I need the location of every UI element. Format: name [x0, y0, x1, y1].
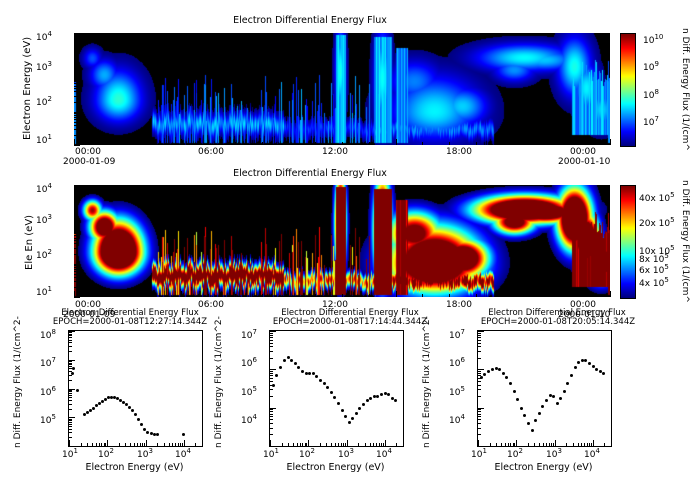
axis-tick [74, 207, 77, 208]
spectrum-2-xtick-2: 102 [299, 447, 315, 460]
spectrum-2-xlabel: Electron Energy (eV) [269, 462, 402, 473]
axis-tick [326, 443, 327, 446]
data-point [337, 402, 340, 405]
data-point [283, 359, 286, 362]
spectrogram-mid-ytick-4: 104 [36, 182, 52, 195]
data-point [556, 402, 559, 405]
axis-tick [270, 369, 276, 370]
axis-tick [157, 443, 158, 446]
axis-tick [288, 139, 289, 145]
axis-tick [69, 346, 72, 347]
data-point [131, 409, 134, 412]
spectrogram-mid-ytick-1: 101 [36, 285, 52, 298]
data-point [487, 370, 490, 373]
axis-tick [74, 214, 77, 215]
axis-tick [604, 443, 605, 446]
axis-tick [270, 337, 273, 338]
axis-tick [69, 360, 75, 361]
axis-tick [74, 230, 80, 231]
data-point [483, 373, 486, 376]
axis-tick [74, 200, 77, 201]
axis-tick [101, 443, 102, 446]
spectrogram-top-colorbar [620, 33, 636, 147]
axis-tick [338, 443, 339, 446]
data-point [362, 403, 365, 406]
axis-tick [270, 423, 273, 424]
axis-tick [74, 271, 77, 272]
data-point [182, 433, 185, 436]
axis-tick [556, 142, 557, 145]
axis-tick [282, 443, 283, 446]
spectrogram-top-image [74, 33, 610, 145]
axis-tick [195, 443, 196, 446]
axis-tick [74, 145, 80, 146]
spectrogram-mid-ytick-2: 102 [36, 248, 52, 261]
axis-tick [125, 443, 126, 446]
axis-tick [69, 422, 72, 423]
axis-tick [81, 443, 82, 446]
spectrum-2-xtick-4: 104 [376, 447, 392, 460]
data-point [581, 359, 584, 362]
axis-tick [584, 443, 585, 446]
spectrum-2-ytick-7: 107 [241, 328, 257, 341]
axis-tick [478, 408, 484, 409]
axis-tick [476, 142, 477, 145]
axis-tick [370, 443, 371, 446]
spectrum-1-subtitle: EPOCH=2000-01-08T12:27:14.344Z [20, 317, 240, 327]
axis-tick [341, 443, 342, 446]
data-point [83, 413, 86, 416]
axis-tick [478, 358, 481, 359]
spectrum-2-xtick-1: 101 [263, 447, 279, 460]
axis-tick [74, 187, 77, 188]
axis-tick [270, 358, 273, 359]
data-point [549, 394, 552, 397]
axis-tick [270, 428, 273, 429]
axis-tick [69, 393, 72, 394]
data-point [137, 418, 140, 421]
axis-tick [478, 343, 481, 344]
data-point [394, 399, 397, 402]
axis-tick [69, 417, 75, 418]
axis-tick [611, 443, 612, 446]
axis-tick [74, 86, 77, 87]
axis-tick [381, 443, 382, 446]
axis-tick [305, 443, 306, 446]
data-point [602, 372, 605, 375]
data-point [577, 361, 580, 364]
axis-tick [74, 102, 77, 103]
axis-tick [403, 443, 404, 446]
spectrogram-mid-title: Electron Differential Energy Flux [0, 168, 620, 179]
axis-tick [369, 294, 370, 297]
data-point [566, 382, 569, 385]
data-point [570, 374, 573, 377]
axis-tick [69, 351, 72, 352]
axis-tick [496, 443, 497, 446]
axis-tick [549, 443, 550, 446]
axis-tick [530, 142, 531, 145]
data-point [344, 415, 347, 418]
spectrogram-top-cbtick-9: 109 [643, 60, 659, 73]
axis-tick [478, 337, 481, 338]
axis-tick [96, 443, 97, 446]
spectrum-3-xlabel: Electron Energy (eV) [477, 462, 610, 473]
axis-tick [478, 385, 481, 386]
axis-tick [510, 443, 511, 446]
axis-tick [583, 294, 584, 297]
axis-tick [573, 443, 574, 446]
axis-tick [74, 96, 77, 97]
spectrum-1-xtick-2: 102 [98, 447, 114, 460]
data-point [319, 379, 322, 382]
axis-tick [69, 337, 72, 338]
axis-tick [74, 115, 77, 116]
axis-tick [528, 443, 529, 446]
axis-tick [74, 129, 77, 130]
axis-tick [69, 391, 72, 392]
axis-tick [74, 68, 77, 69]
axis-tick [146, 440, 147, 446]
axis-tick [69, 368, 72, 369]
data-point [86, 411, 89, 414]
spectrogram-top-ytick-2: 102 [36, 95, 52, 108]
axis-tick [69, 334, 72, 335]
data-point [552, 395, 555, 398]
spectrogram-top-ytick-1: 101 [36, 133, 52, 146]
data-point [312, 372, 315, 375]
axis-tick [74, 50, 77, 51]
data-point [326, 386, 329, 389]
axis-tick [74, 122, 77, 123]
spectrum-3-ylabel: n Diff. Energy Flux (1/(cm^2- [422, 316, 432, 448]
axis-tick [178, 443, 179, 446]
axis-tick [74, 48, 77, 49]
axis-tick [74, 291, 75, 297]
axis-tick [539, 443, 540, 446]
axis-tick [74, 52, 77, 53]
axis-tick [164, 443, 165, 446]
axis-tick [478, 428, 481, 429]
spectrum-1-xtick-1: 101 [62, 447, 78, 460]
data-point [502, 372, 505, 375]
axis-tick [181, 291, 182, 297]
axis-tick [270, 381, 273, 382]
data-point [516, 398, 519, 401]
axis-tick [478, 416, 481, 417]
spectrum-3-plot-frame [477, 330, 612, 447]
axis-tick [128, 294, 129, 297]
spectrum-1-plot-frame [68, 330, 203, 447]
data-point [574, 366, 577, 369]
axis-tick [270, 389, 273, 390]
axis-tick [396, 139, 397, 145]
axis-tick [476, 294, 477, 297]
axis-tick [478, 378, 481, 379]
axis-tick [74, 274, 77, 275]
data-point [541, 405, 544, 408]
axis-tick [74, 88, 77, 89]
spectrogram-mid-ytick-3: 103 [36, 213, 52, 226]
data-point [391, 397, 394, 400]
axis-tick [69, 342, 72, 343]
axis-tick [69, 366, 72, 367]
spectrum-1-xlabel: Electron Energy (eV) [68, 462, 201, 473]
axis-tick [478, 423, 481, 424]
data-point [513, 390, 516, 393]
axis-tick [69, 437, 72, 438]
axis-tick [69, 432, 72, 433]
axis-tick [503, 139, 504, 145]
axis-tick [74, 240, 77, 241]
axis-tick [478, 346, 481, 347]
axis-tick [589, 443, 590, 446]
axis-tick [270, 408, 276, 409]
axis-tick [235, 294, 236, 297]
axis-tick [69, 335, 72, 336]
axis-tick [270, 343, 273, 344]
axis-tick [449, 142, 450, 145]
axis-tick [140, 443, 141, 446]
data-point [387, 393, 390, 396]
axis-tick [270, 346, 273, 347]
axis-tick [490, 443, 491, 446]
axis-tick [478, 331, 484, 332]
spectrum-1-ylabel: n Diff. Energy Flux (1/(cm^2- [13, 316, 23, 448]
data-point [156, 433, 159, 436]
spectrum-1-ytick-6: 106 [40, 385, 56, 398]
spectrogram-mid-cbtick-20: 20x 105 [639, 216, 675, 229]
axis-tick [583, 142, 584, 145]
spectrum-3-xtick-2: 102 [507, 447, 523, 460]
data-point [563, 390, 566, 393]
data-point [98, 402, 101, 405]
axis-tick [69, 389, 75, 390]
spectrum-1-ytick-5: 105 [40, 413, 56, 426]
axis-tick [288, 443, 289, 446]
axis-tick [74, 62, 77, 63]
spectrogram-top-xtick-3: 18:00 [446, 147, 472, 157]
axis-tick [74, 238, 77, 239]
axis-tick [69, 424, 72, 425]
axis-tick [293, 443, 294, 446]
axis-tick [74, 113, 77, 114]
axis-tick [513, 443, 514, 446]
axis-tick [74, 83, 77, 84]
axis-tick [369, 142, 370, 145]
axis-tick [422, 294, 423, 297]
spectrum-3-ytick-5: 105 [449, 385, 465, 398]
data-point [323, 382, 326, 385]
data-point [545, 399, 548, 402]
axis-tick [320, 443, 321, 446]
axis-tick [478, 411, 481, 412]
axis-tick [74, 81, 77, 82]
spectrogram-top-xtick-2: 12:00 [322, 147, 348, 157]
axis-tick [69, 390, 72, 391]
axis-tick [478, 351, 481, 352]
data-point [505, 376, 508, 379]
axis-tick [74, 297, 80, 298]
spectrogram-top-xtick-4: 00:00 [570, 147, 596, 157]
data-point [595, 368, 598, 371]
spectrogram-top-cbtick-7: 107 [643, 115, 659, 128]
data-point [72, 367, 75, 370]
spectrogram-top-ytick-3: 103 [36, 60, 52, 73]
data-point [384, 392, 387, 395]
axis-tick [543, 443, 544, 446]
data-point [134, 413, 137, 416]
axis-tick [335, 443, 336, 446]
axis-tick [74, 112, 80, 113]
axis-tick [610, 291, 611, 297]
axis-tick [270, 414, 273, 415]
axis-tick [376, 443, 377, 446]
axis-tick [69, 429, 72, 430]
axis-tick [516, 440, 517, 446]
axis-tick [422, 142, 423, 145]
spectrogram-mid-image [74, 185, 610, 297]
axis-tick [74, 46, 77, 47]
axis-tick [578, 443, 579, 446]
spectrogram-top-cbtick-8: 108 [643, 88, 659, 101]
axis-tick [478, 375, 481, 376]
axis-tick [69, 375, 72, 376]
axis-tick [69, 380, 72, 381]
data-point [588, 362, 591, 365]
data-point [491, 368, 494, 371]
spectrogram-top-ytick-4: 104 [36, 30, 52, 43]
spectrogram-mid-cbtick-6: 6x 105 [639, 263, 669, 276]
spectrogram-mid-colorbar-label: n Diff. Energy Flux (1/(cm^ [680, 180, 690, 303]
data-point [520, 407, 523, 410]
axis-tick [555, 440, 556, 446]
axis-tick [74, 277, 77, 278]
axis-tick [270, 416, 273, 417]
axis-tick [379, 443, 380, 446]
axis-tick [169, 443, 170, 446]
data-point [366, 399, 369, 402]
data-point [92, 407, 95, 410]
axis-tick [396, 291, 397, 297]
data-point [294, 362, 297, 365]
axis-tick [478, 419, 481, 420]
axis-tick [478, 373, 481, 374]
axis-tick [546, 443, 547, 446]
data-point [380, 393, 383, 396]
axis-tick [202, 443, 203, 446]
axis-tick [74, 243, 77, 244]
axis-tick [449, 294, 450, 297]
data-point [523, 414, 526, 417]
axis-tick [530, 294, 531, 297]
data-point [341, 409, 344, 412]
axis-tick [551, 443, 552, 446]
axis-tick [373, 443, 374, 446]
axis-tick [300, 443, 301, 446]
spectrum-2-ytick-4: 104 [241, 413, 257, 426]
spectrogram-mid-colorbar [620, 185, 636, 299]
axis-tick [99, 443, 100, 446]
axis-tick [478, 409, 481, 410]
data-point [527, 422, 530, 425]
spectrum-1-xtick-3: 103 [137, 447, 153, 460]
data-point [290, 359, 293, 362]
spectrogram-top-xtick-1: 06:00 [198, 147, 224, 157]
spectrogram-top-xtick-0: 00:00 [75, 147, 101, 157]
data-point [509, 382, 512, 385]
axis-tick [69, 331, 75, 332]
axis-tick [87, 443, 88, 446]
axis-tick [74, 264, 80, 265]
data-point [305, 372, 308, 375]
axis-tick [74, 198, 77, 199]
axis-tick [104, 443, 105, 446]
axis-tick [92, 443, 93, 446]
axis-tick [74, 248, 77, 249]
data-point [355, 412, 358, 415]
axis-tick [154, 142, 155, 145]
axis-tick [74, 78, 80, 79]
axis-tick [74, 197, 80, 198]
axis-tick [342, 294, 343, 297]
axis-tick [142, 443, 143, 446]
axis-tick [74, 117, 77, 118]
axis-tick [302, 443, 303, 446]
data-point [348, 421, 351, 424]
axis-tick [478, 396, 481, 397]
axis-tick [128, 142, 129, 145]
spectrogram-top-date-left: 2000-01-09 [63, 157, 115, 167]
axis-tick [74, 233, 77, 234]
axis-tick [396, 443, 397, 446]
axis-tick [587, 443, 588, 446]
axis-tick [270, 385, 273, 386]
axis-tick [74, 45, 80, 46]
axis-tick [270, 331, 276, 332]
axis-tick [308, 440, 309, 446]
data-point [315, 375, 318, 378]
axis-tick [235, 142, 236, 145]
axis-tick [69, 395, 72, 396]
spectrogram-mid-ylabel: Ele En (eV) [24, 215, 35, 270]
spectrum-3-xtick-1: 101 [471, 447, 487, 460]
spectrum-2-plot-frame [269, 330, 404, 447]
axis-tick [556, 294, 557, 297]
spectrum-1-xtick-4: 104 [175, 447, 191, 460]
axis-tick [69, 404, 72, 405]
data-point [351, 417, 354, 420]
axis-tick [270, 371, 273, 372]
axis-tick [69, 409, 72, 410]
data-point [330, 391, 333, 394]
axis-tick [478, 381, 481, 382]
axis-tick [478, 414, 481, 415]
axis-tick [478, 371, 481, 372]
data-point [599, 370, 602, 373]
axis-tick [101, 294, 102, 297]
axis-tick [175, 443, 176, 446]
axis-tick [130, 443, 131, 446]
axis-tick [69, 397, 72, 398]
axis-tick [315, 294, 316, 297]
axis-tick [503, 291, 504, 297]
data-point [279, 366, 282, 369]
data-point [376, 395, 379, 398]
axis-tick [74, 220, 77, 221]
axis-tick [74, 125, 77, 126]
axis-tick [74, 267, 77, 268]
